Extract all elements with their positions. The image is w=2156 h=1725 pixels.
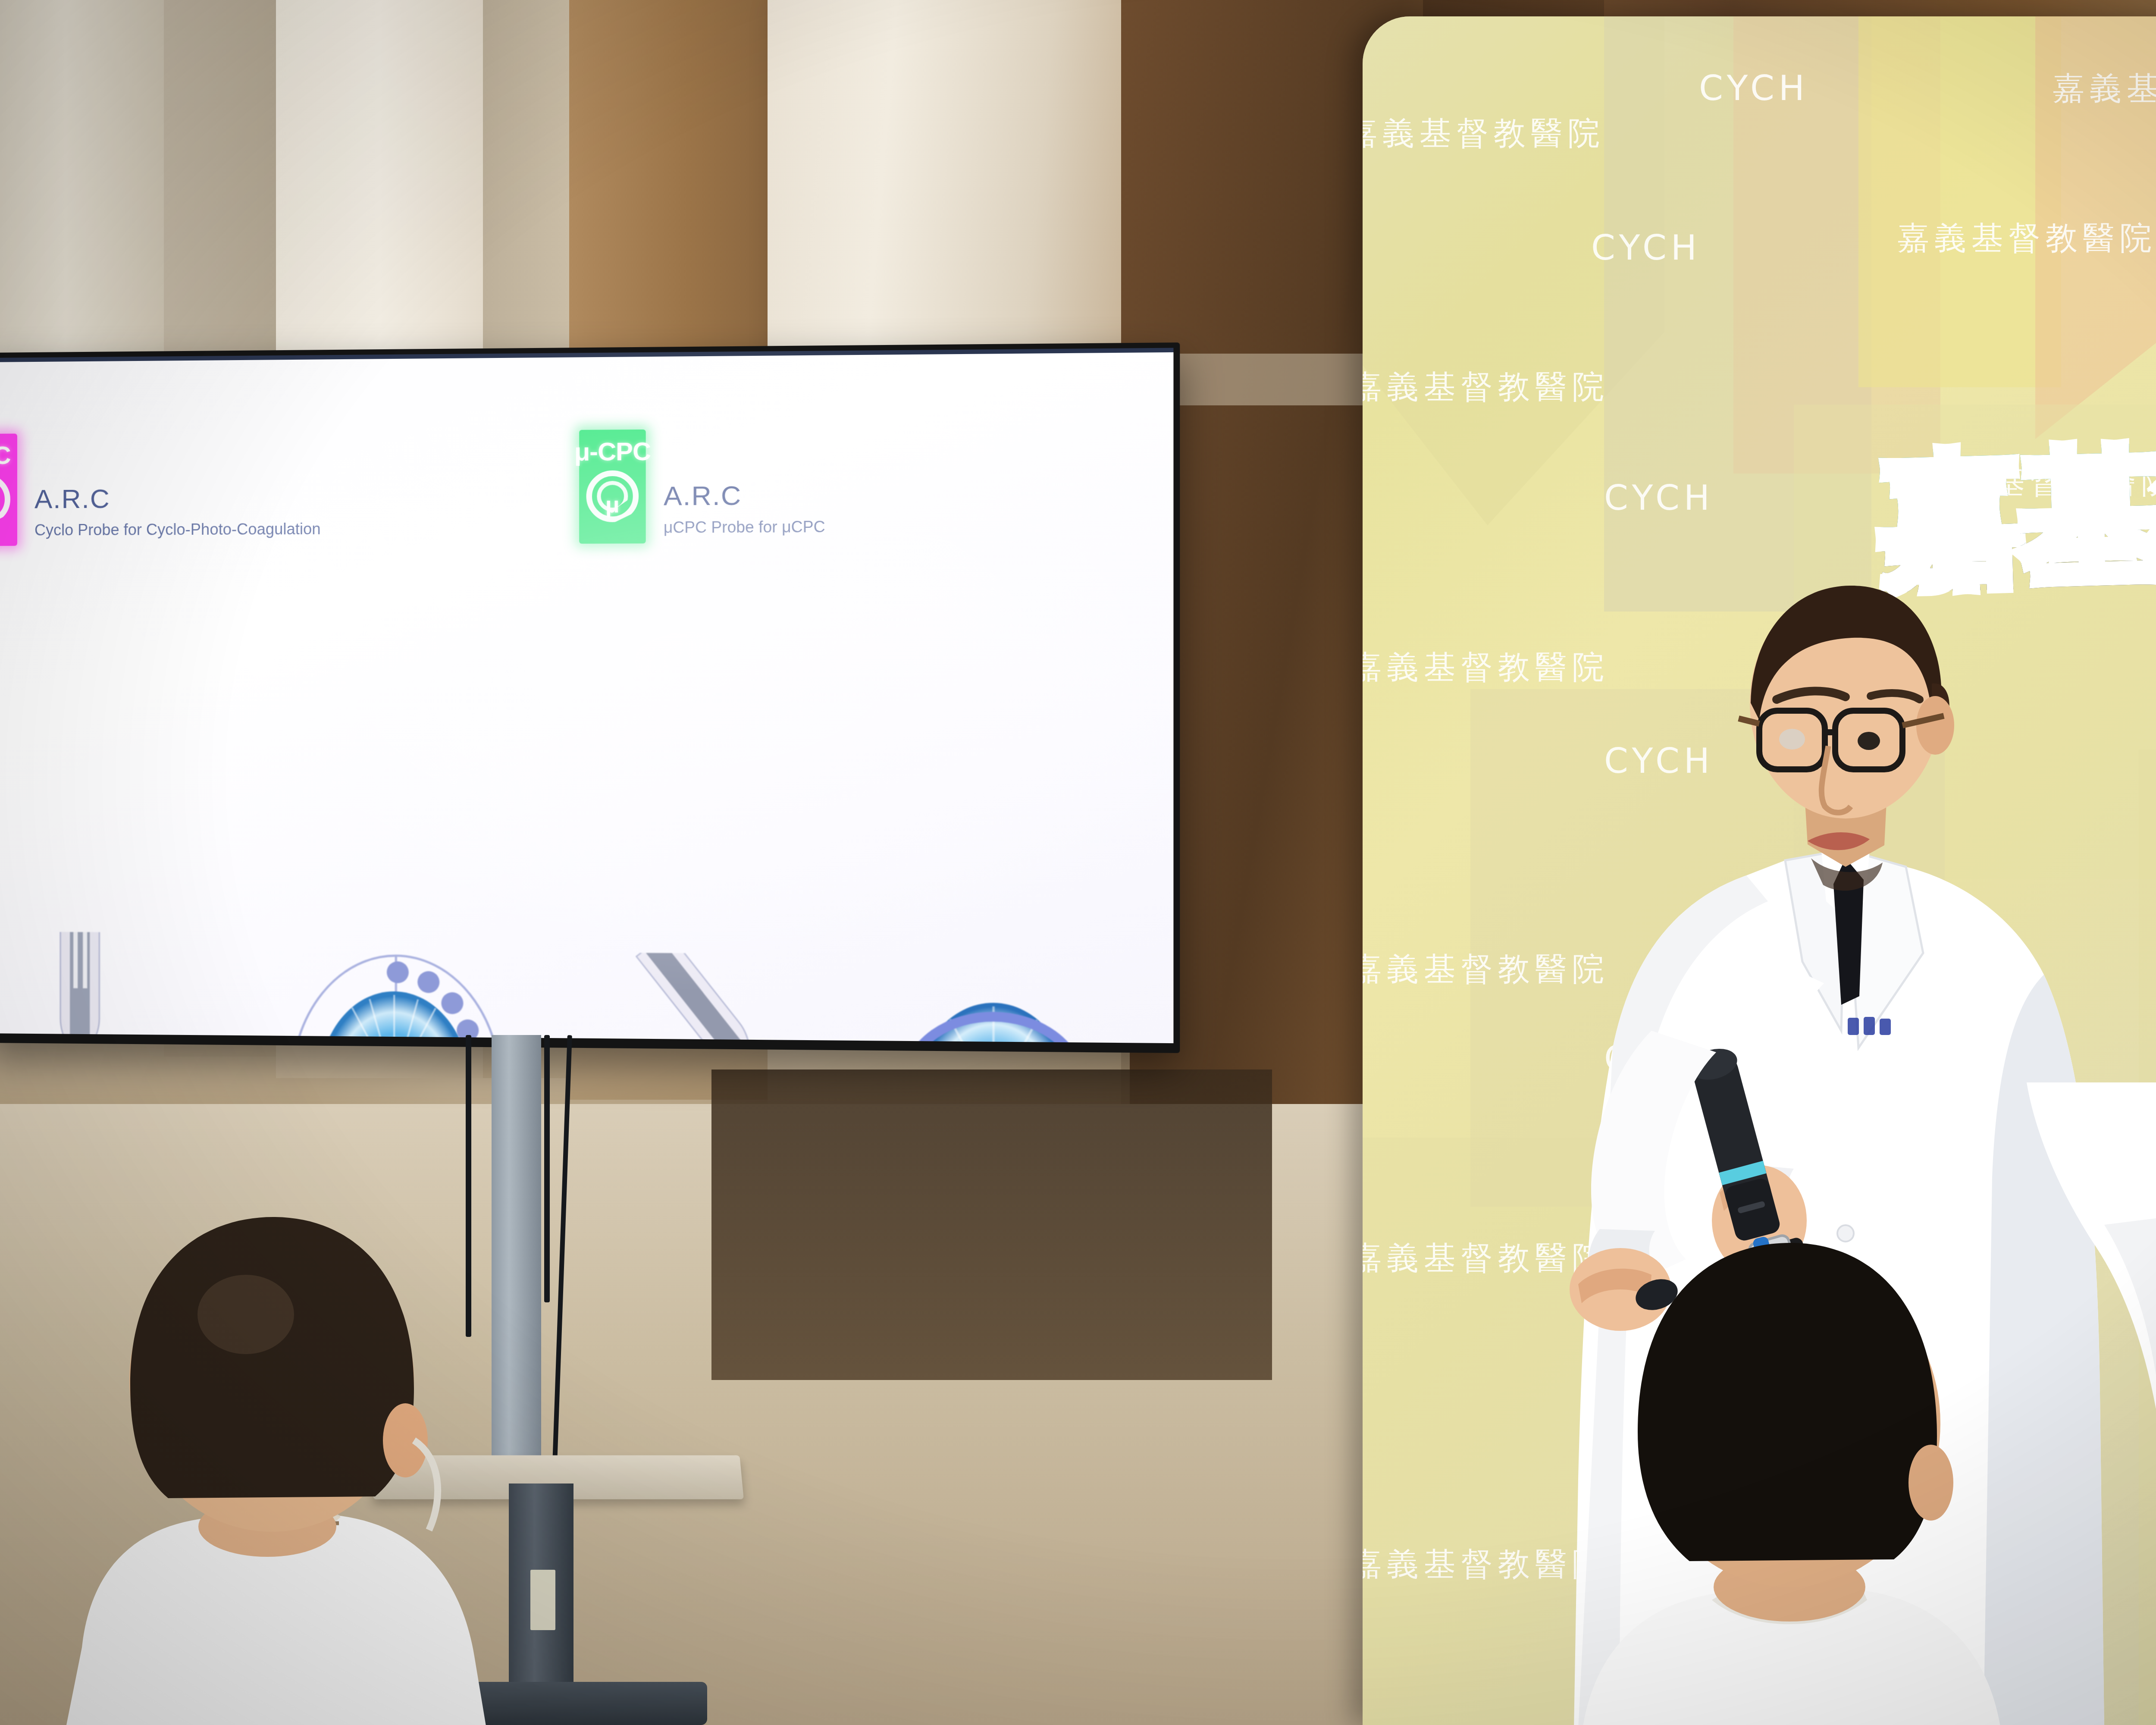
headline-char: 基 <box>2018 443 2156 589</box>
cpc-text-block: A.R.C Cyclo Probe for Cyclo-Photo-Coagul… <box>34 482 321 539</box>
ucpc-subtitle: μCPC Probe for μCPC <box>664 517 825 536</box>
aud2-hair <box>1638 1243 1937 1561</box>
ucpc-title: A.R.C <box>664 480 825 511</box>
headline-char: 嘉 <box>1878 447 2022 593</box>
banner-watermark: CYCH <box>1591 228 1701 268</box>
banner-shape-4 <box>1858 16 2061 387</box>
ucpc-ring-icon: μ <box>586 470 639 522</box>
aud1-hair <box>130 1217 414 1498</box>
lens-glare-left <box>1779 729 1805 750</box>
photo-scene: CPC A.R.C Cyclo Probe for Cyclo-Photo-Co… <box>0 0 2156 1725</box>
banner-watermark: 嘉義基督教醫院 <box>2053 67 2156 110</box>
slide-content: CPC A.R.C Cyclo Probe for Cyclo-Photo-Co… <box>0 348 1173 1043</box>
aud3-garment <box>2027 1082 2156 1725</box>
ucpc-badge-label: μ-CPC <box>574 436 651 466</box>
cpc-badge-icon: CPC <box>0 433 17 546</box>
presentation-display[interactable]: CPC A.R.C Cyclo Probe for Cyclo-Photo-Co… <box>0 342 1180 1053</box>
cpc-cross-section-diagram: limbus <box>0 931 243 1043</box>
banner-watermark: CYCH <box>1699 68 1809 108</box>
aud2-ear <box>1908 1445 1953 1521</box>
cpc-badge-label: CPC <box>0 441 11 470</box>
ucpc-badge-icon: μ-CPC μ <box>579 430 646 544</box>
banner-watermark: CYCH <box>1604 478 1714 518</box>
eye-sweep-arrows-diagram <box>836 937 1153 1044</box>
audience-member-front-left <box>4 1199 565 1725</box>
cpc-ring-icon <box>0 474 10 525</box>
banner-headline: 嘉基微脈衝青 <box>1878 427 2156 593</box>
cpc-title: A.R.C <box>34 482 321 514</box>
banner-watermark: 嘉義基督教醫院 <box>1897 217 2156 260</box>
floor-shadow-zone <box>711 1069 1272 1380</box>
ucpc-text-block: A.R.C μCPC Probe for μCPC <box>664 480 825 537</box>
tv-screen: CPC A.R.C Cyclo Probe for Cyclo-Photo-Co… <box>0 348 1173 1043</box>
ear <box>1916 696 1954 755</box>
coat-name-embroidery <box>1848 1017 1891 1035</box>
aud1-ear <box>383 1403 428 1477</box>
eye-dotted-pattern-diagram <box>243 920 550 1043</box>
cpc-subtitle: Cyclo Probe for Cyclo-Photo-Coagulation <box>34 520 321 539</box>
banner-watermark: 嘉義基督教醫院 <box>1363 112 1605 155</box>
banner-watermark: 嘉義基督教醫院 <box>1363 366 1609 409</box>
aud1-crown-thinning <box>197 1275 294 1354</box>
ucpc-mu-glyph: μ <box>586 493 639 516</box>
eye-right <box>1858 732 1880 750</box>
audience-member-right-standing <box>1966 1082 2156 1725</box>
